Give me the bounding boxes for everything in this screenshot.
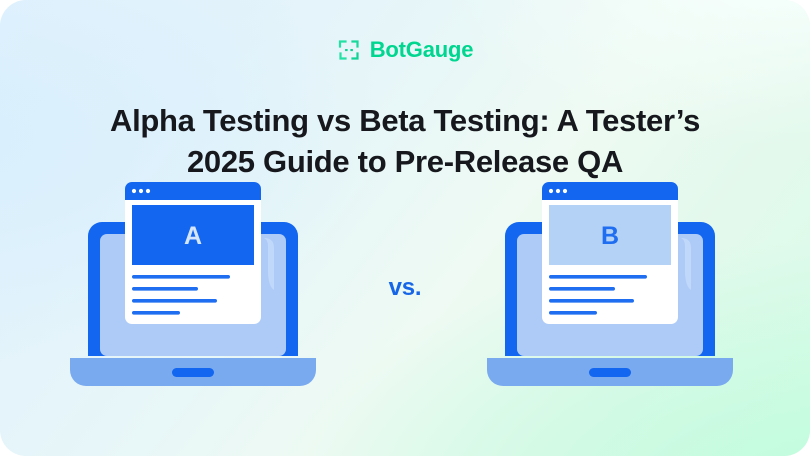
page-title-line-2: 2025 Guide to Pre-Release QA (50, 142, 760, 183)
poster-canvas: BotGauge Alpha Testing vs Beta Testing: … (0, 0, 810, 456)
beta-laptop: B (485, 178, 735, 393)
alpha-browser-card: A (125, 182, 261, 324)
brand-lockup: BotGauge (0, 38, 810, 62)
vs-label: vs. (355, 274, 455, 302)
beta-letter: B (601, 222, 619, 250)
brand-name: BotGauge (370, 39, 474, 61)
bot-face-bracket-icon (337, 38, 361, 62)
alpha-letter: A (184, 222, 202, 250)
comparison-illustration: A vs. (0, 178, 810, 393)
page-title-line-1: Alpha Testing vs Beta Testing: A Tester’… (50, 101, 760, 142)
beta-browser-card: B (542, 182, 678, 324)
page-title: Alpha Testing vs Beta Testing: A Tester’… (50, 101, 760, 183)
alpha-laptop: A (68, 178, 318, 393)
